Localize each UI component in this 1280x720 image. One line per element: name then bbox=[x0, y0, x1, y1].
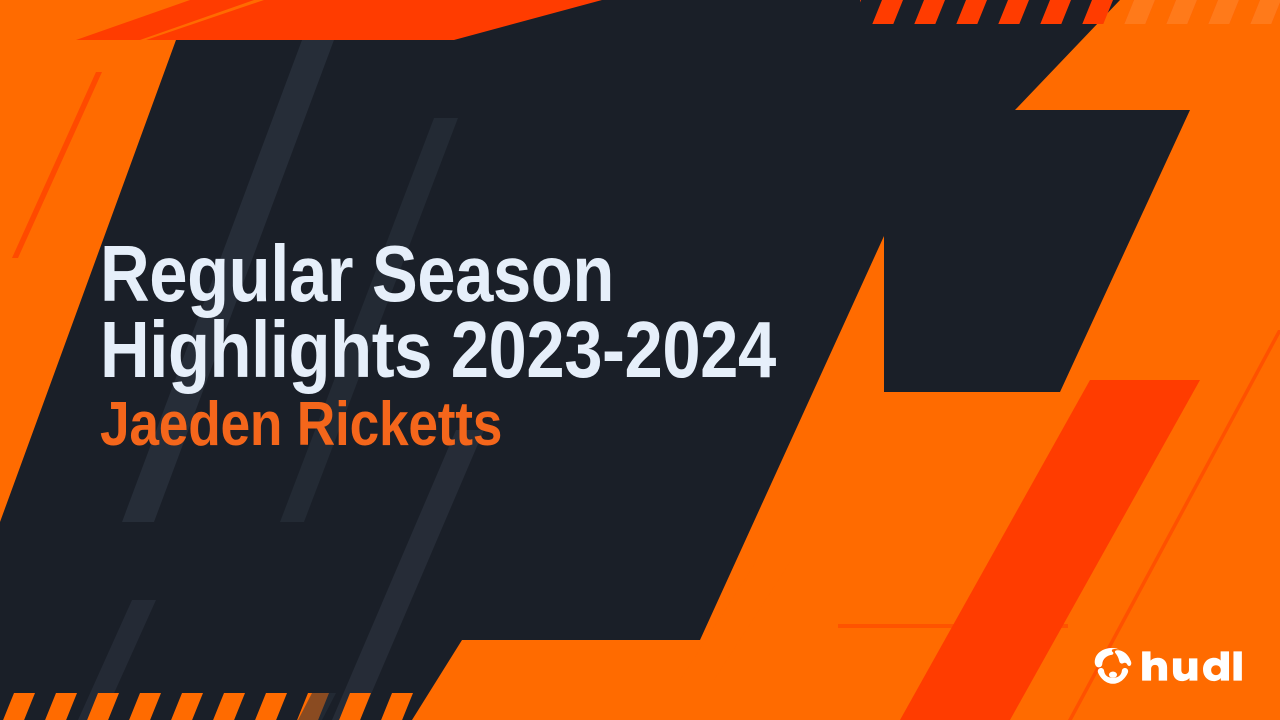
highlight-title-card: Regular Season Highlights 2023-2024 Jaed… bbox=[0, 0, 1280, 720]
hudl-wordmark bbox=[1141, 644, 1253, 688]
title-block: Regular Season Highlights 2023-2024 Jaed… bbox=[100, 236, 900, 456]
hudl-shield-mark bbox=[1093, 639, 1133, 693]
hudl-logo bbox=[1093, 636, 1253, 696]
title-line-2: Highlights 2023-2024 bbox=[100, 312, 788, 388]
athlete-name: Jaeden Ricketts bbox=[100, 394, 788, 456]
title-line-1: Regular Season bbox=[100, 236, 788, 312]
right-hairline-b bbox=[838, 624, 1068, 628]
